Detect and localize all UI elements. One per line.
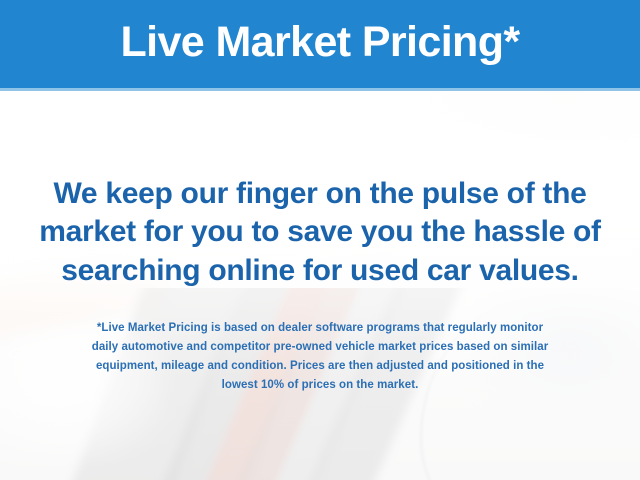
fine-print-line-1: *Live Market Pricing is based on dealer …: [18, 319, 622, 338]
fine-print-line-2: daily automotive and competitor pre-owne…: [18, 338, 622, 357]
headline-line-2: market for you to save you the hassle of: [22, 213, 618, 251]
page-title: Live Market Pricing*: [120, 21, 519, 64]
headline-line-1: We keep our finger on the pulse of the: [22, 175, 618, 213]
header-band: Live Market Pricing*: [0, 0, 640, 88]
headline-text: We keep our finger on the pulse of the m…: [0, 175, 640, 290]
headline-line-3: searching online for used car values.: [22, 252, 618, 290]
fine-print-line-4: lowest 10% of prices on the market.: [18, 376, 622, 395]
content-area: We keep our finger on the pulse of the m…: [0, 91, 640, 480]
fine-print-line-3: equipment, mileage and condition. Prices…: [18, 357, 622, 376]
fine-print-disclaimer: *Live Market Pricing is based on dealer …: [0, 319, 640, 395]
live-market-pricing-banner: Live Market Pricing* We keep our finger …: [0, 0, 640, 480]
